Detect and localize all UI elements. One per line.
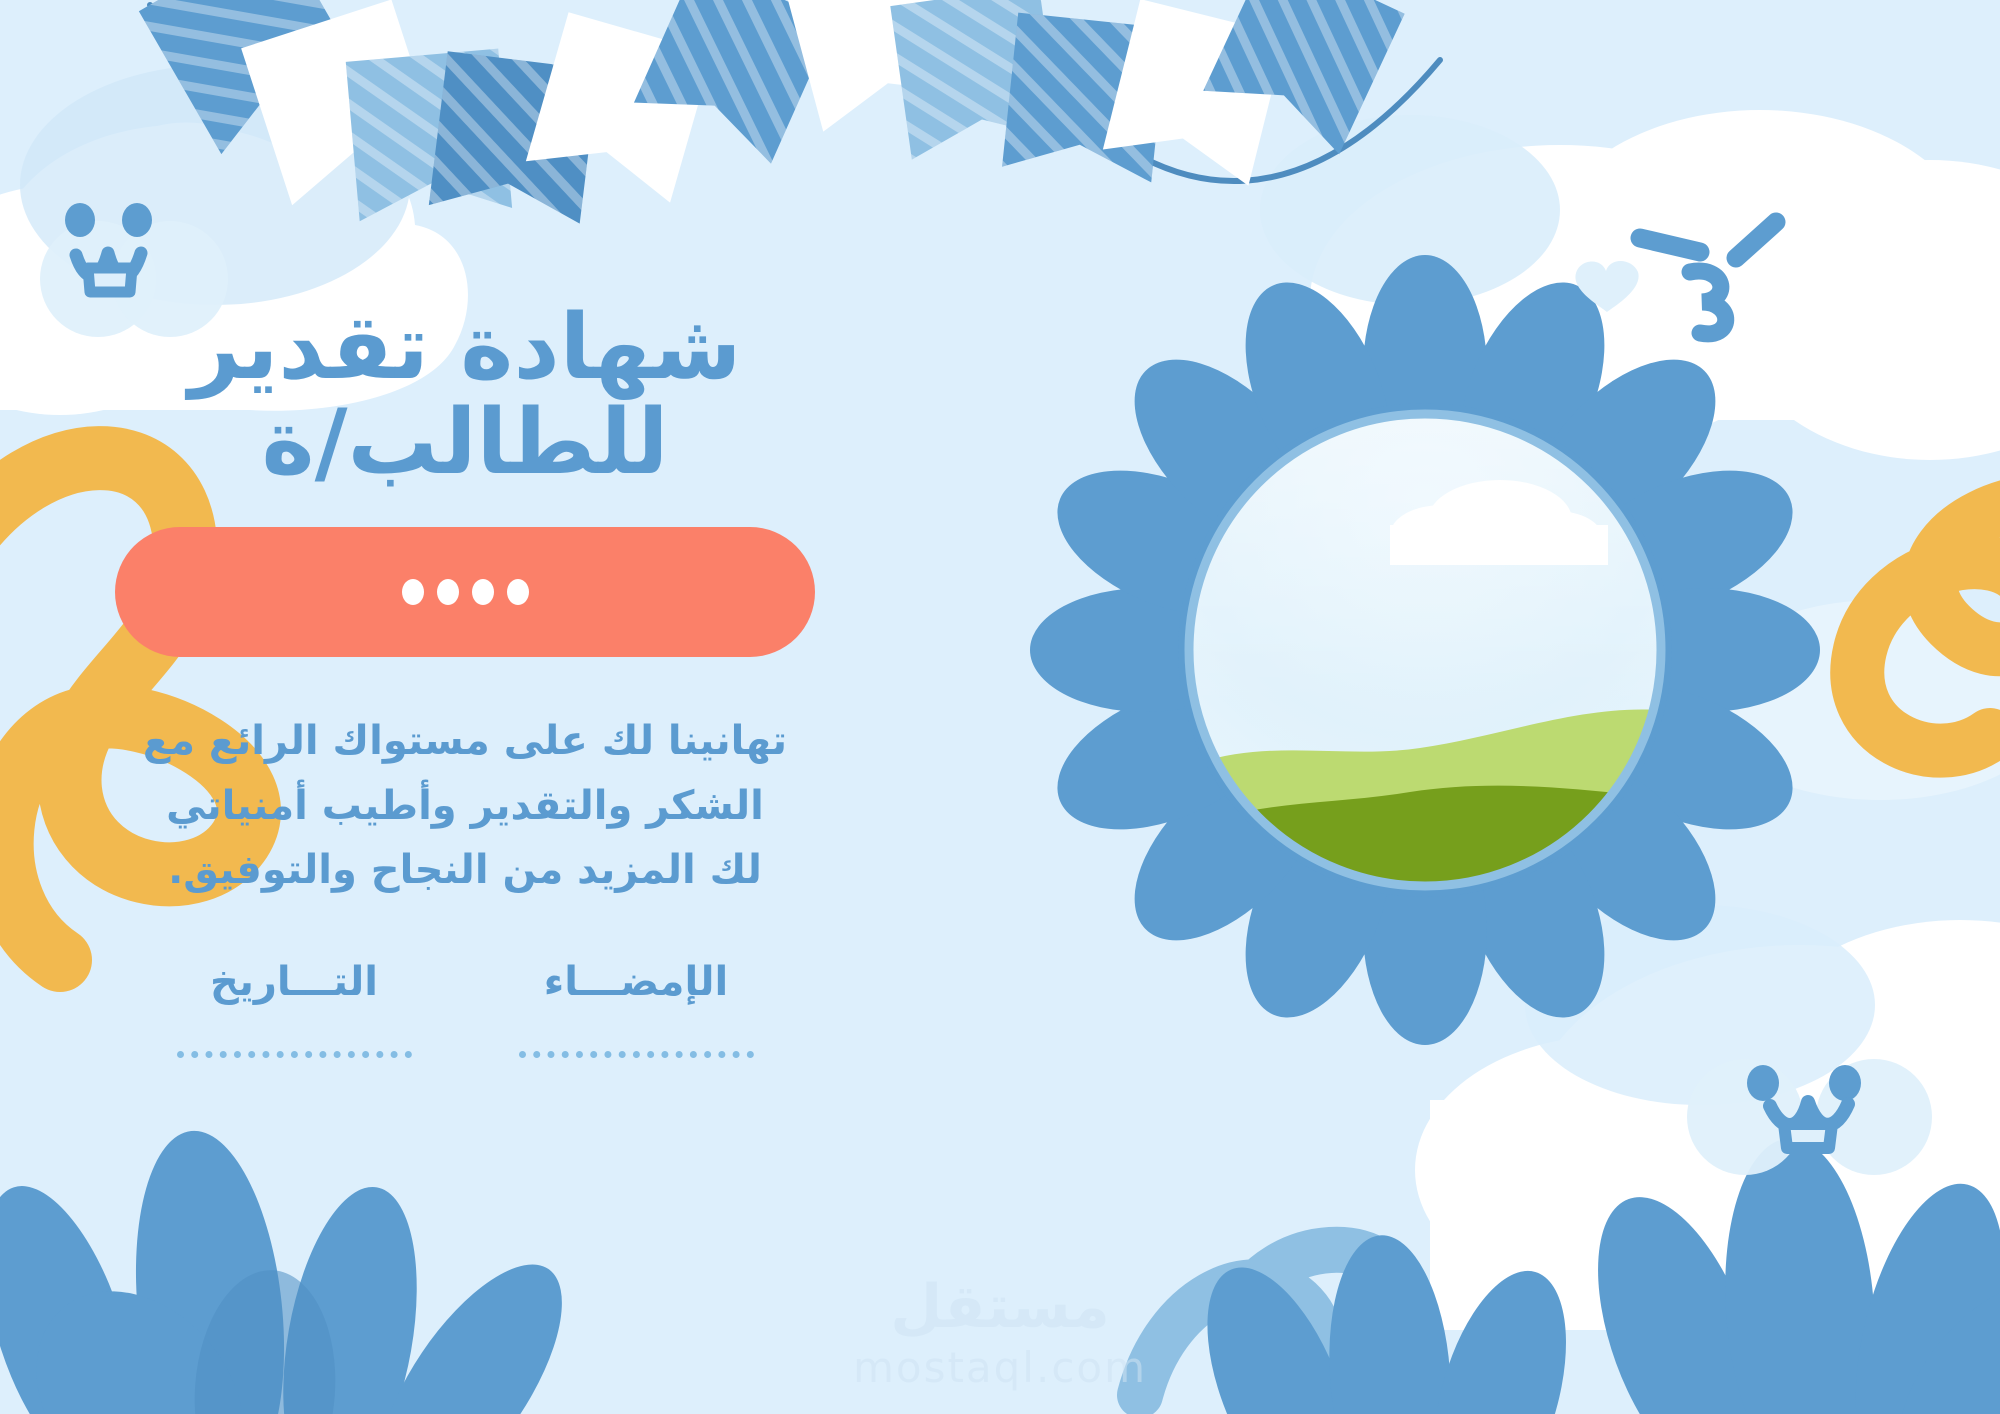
name-placeholder-dot (402, 579, 424, 605)
congratulation-message: تهانينا لك على مستواك الرائع مع الشكر وا… (135, 709, 795, 903)
page-title: شهادة تقدير للطالب/ة (115, 300, 815, 491)
certificate-title-line-2: للطالب/ة (261, 390, 668, 495)
flower-medallion (1030, 255, 1820, 1045)
watermark-arabic-text: مستقل (830, 1277, 1170, 1337)
signature-label: الإمضـــاء (511, 959, 761, 1005)
watermark-latin-text: mostaql.com (830, 1343, 1170, 1392)
date-field[interactable]: التـــاريخ (169, 959, 419, 1058)
name-placeholder-dot (472, 579, 494, 605)
signature-dotted-line (519, 1051, 754, 1058)
name-placeholder-dot (507, 579, 529, 605)
date-label: التـــاريخ (169, 959, 419, 1005)
signature-date-row: الإمضـــاء التـــاريخ (115, 959, 815, 1058)
date-dotted-line (177, 1051, 412, 1058)
certificate-text-block: شهادة تقدير للطالب/ة تهانينا لك على مستو… (115, 300, 815, 1058)
name-placeholder-dot (437, 579, 459, 605)
certificate-canvas: شهادة تقدير للطالب/ة تهانينا لك على مستو… (0, 0, 2000, 1414)
signature-field[interactable]: الإمضـــاء (511, 959, 761, 1058)
certificate-title-line-1: شهادة تقدير (189, 295, 742, 400)
mostaql-watermark: مستقل mostaql.com (830, 1277, 1170, 1392)
student-name-field[interactable] (115, 527, 815, 657)
